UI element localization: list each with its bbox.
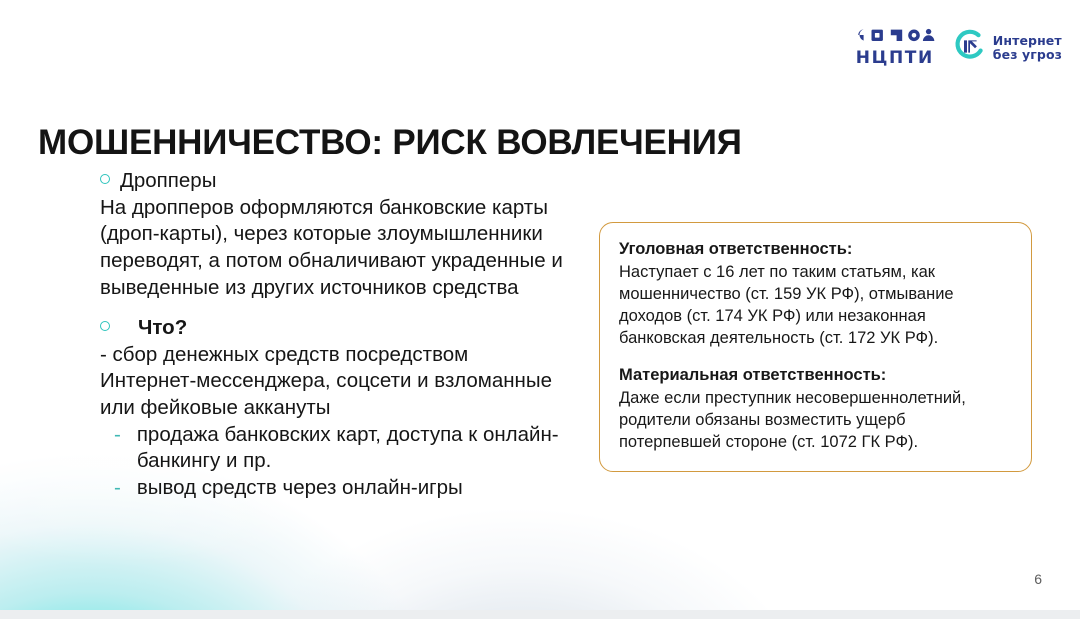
what-paragraph: - сбор денежных средств посредством Инте… bbox=[100, 342, 570, 422]
logo-bar: НЦПТИ Интернет без угроз bbox=[854, 28, 1062, 67]
bullet-droppers-label: Дропперы bbox=[120, 168, 216, 195]
dash-mark-icon: - bbox=[114, 422, 121, 475]
bullet-droppers: Дропперы bbox=[100, 168, 570, 195]
bottom-strip bbox=[0, 610, 1080, 619]
bullet-what: Что? bbox=[100, 315, 570, 342]
list-item-text: вывод средств через онлайн-игры bbox=[137, 475, 570, 502]
bullet-what-label: Что? bbox=[138, 315, 187, 342]
ncpti-wordmark: НЦПТИ bbox=[856, 50, 934, 67]
material-liability-heading: Материальная ответственность: bbox=[619, 365, 1012, 387]
left-content-column: Дропперы На дропперов оформляются банков… bbox=[100, 168, 570, 502]
ncpti-glyph-row-icon bbox=[854, 28, 936, 48]
criminal-liability-heading: Уголовная ответственность: bbox=[619, 239, 1012, 261]
iwt-line-2: без угроз bbox=[993, 48, 1062, 62]
page-number: 6 bbox=[1034, 571, 1042, 587]
iwt-line-1: Интернет bbox=[993, 34, 1062, 48]
droppers-paragraph: На дропперов оформляются банковские карт… bbox=[100, 195, 570, 302]
criminal-liability-body: Наступает с 16 лет по таким статьям, как… bbox=[619, 262, 1012, 350]
presentation-slide: НЦПТИ Интернет без угроз МОШЕННИЧЕСТВО: … bbox=[0, 0, 1080, 619]
callout-spacer bbox=[619, 350, 1012, 365]
material-liability-body: Даже если преступник несовершеннолетний,… bbox=[619, 388, 1012, 454]
ring-bullet-icon bbox=[100, 174, 110, 184]
list-item: - продажа банковских карт, доступа к онл… bbox=[100, 422, 570, 475]
liability-callout-box: Уголовная ответственность: Наступает с 1… bbox=[599, 222, 1032, 472]
list-item-text: продажа банковских карт, доступа к онлай… bbox=[137, 422, 570, 475]
internet-without-threats-logo: Интернет без угроз bbox=[952, 28, 1062, 67]
internet-without-threats-text: Интернет без угроз bbox=[993, 34, 1062, 62]
internet-shield-arrow-icon bbox=[952, 28, 986, 67]
ncpti-logo: НЦПТИ bbox=[854, 28, 936, 67]
sub-items-list: - продажа банковских карт, доступа к онл… bbox=[100, 422, 570, 502]
ring-bullet-icon bbox=[100, 321, 110, 331]
page-title: МОШЕННИЧЕСТВО: РИСК ВОВЛЕЧЕНИЯ bbox=[38, 123, 742, 163]
dash-mark-icon: - bbox=[114, 475, 121, 502]
list-item: - вывод средств через онлайн-игры bbox=[100, 475, 570, 502]
